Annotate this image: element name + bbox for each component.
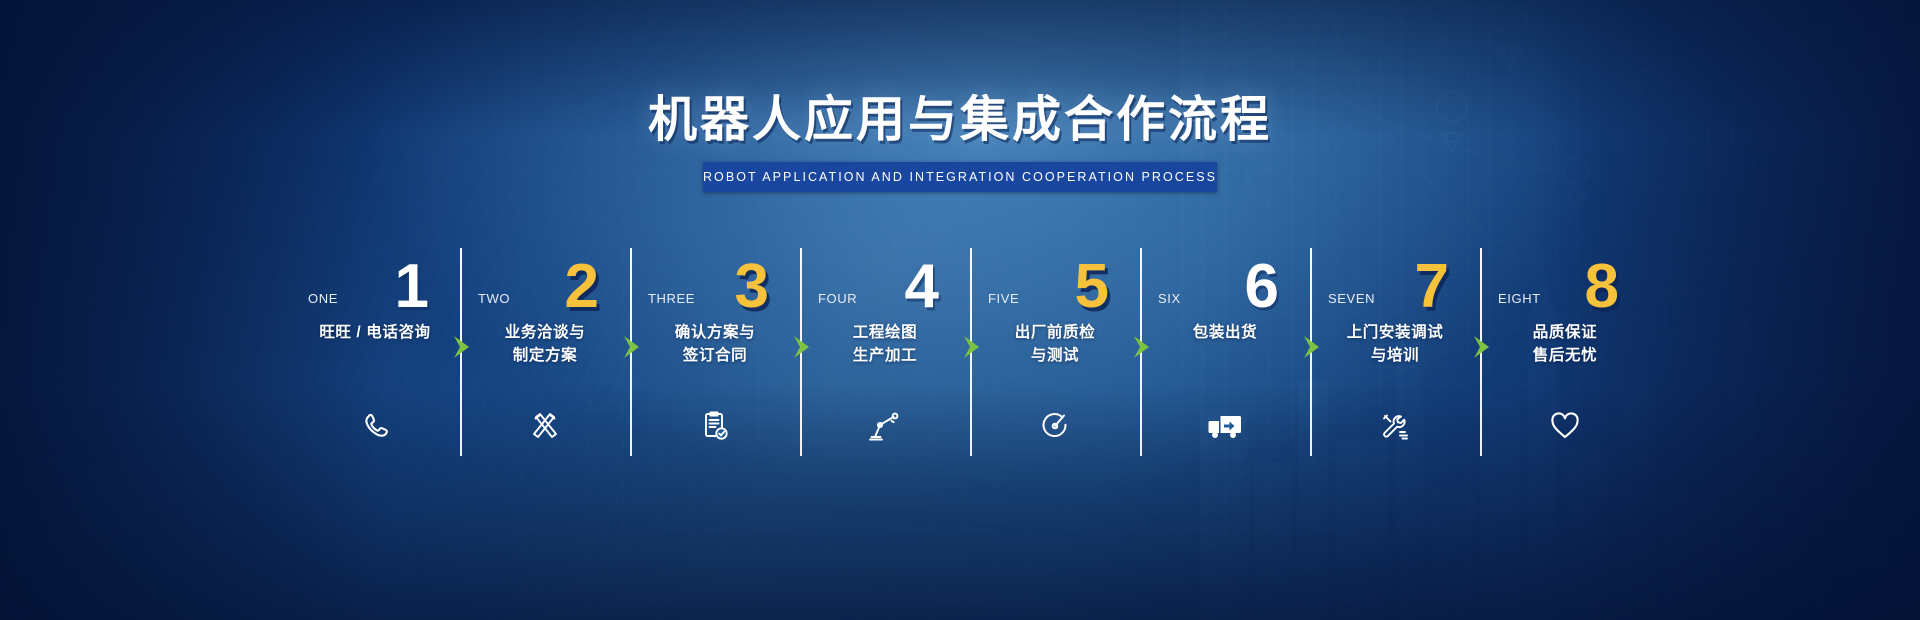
delivery-truck-icon	[1140, 404, 1310, 448]
step-number-row: SEVEN 7	[1310, 248, 1480, 310]
step-numeral: 3	[735, 256, 768, 318]
step-numeral: 8	[1585, 256, 1618, 318]
ruler-pencil-icon	[460, 404, 630, 448]
step-label: 品质保证 售后无忧	[1480, 322, 1650, 368]
page-title: 机器人应用与集成合作流程	[0, 96, 1920, 145]
process-step-4[interactable]: FOUR 4 工程绘图 生产加工	[800, 248, 970, 460]
step-numeral: 7	[1415, 256, 1448, 318]
step-number-row: TWO 2	[460, 248, 630, 310]
process-step-8[interactable]: EIGHT 8 品质保证 售后无忧	[1480, 248, 1650, 460]
step-label-line: 业务洽谈与	[460, 322, 630, 345]
robot-arm-icon	[800, 404, 970, 448]
step-numeral: 5	[1075, 256, 1108, 318]
step-label-line: 旺旺 / 电话咨询	[290, 322, 460, 345]
subtitle-text: ROBOT APPLICATION AND INTEGRATION COOPER…	[703, 170, 1217, 184]
process-step-3[interactable]: THREE 3 确认方案与 签订合同	[630, 248, 800, 460]
gauge-icon	[970, 404, 1140, 448]
step-label-line: 出厂前质检	[970, 322, 1140, 345]
process-step-6[interactable]: SIX 6 包装出货	[1140, 248, 1310, 460]
process-step-1[interactable]: ONE 1 旺旺 / 电话咨询	[290, 248, 460, 460]
step-label-line: 品质保证	[1480, 322, 1650, 345]
process-step-2[interactable]: TWO 2 业务洽谈与 制定方案	[460, 248, 630, 460]
step-number-row: SIX 6	[1140, 248, 1310, 310]
step-label-line: 与培训	[1310, 345, 1480, 368]
step-number-row: ONE 1	[290, 248, 460, 310]
step-ordinal: FIVE	[988, 291, 1019, 306]
step-label-line: 生产加工	[800, 345, 970, 368]
heart-icon	[1480, 404, 1650, 448]
process-step-7[interactable]: SEVEN 7 上门安装调试 与培训	[1310, 248, 1480, 460]
step-label: 工程绘图 生产加工	[800, 322, 970, 368]
step-ordinal: SIX	[1158, 291, 1181, 306]
step-label: 出厂前质检 与测试	[970, 322, 1140, 368]
step-label-line: 签订合同	[630, 345, 800, 368]
step-ordinal: THREE	[648, 291, 695, 306]
step-label-line: 售后无忧	[1480, 345, 1650, 368]
step-label-line: 上门安装调试	[1310, 322, 1480, 345]
step-numeral: 4	[905, 256, 938, 318]
step-numeral: 6	[1245, 256, 1278, 318]
contract-check-icon	[630, 404, 800, 448]
step-number-row: FIVE 5	[970, 248, 1140, 310]
step-number-row: FOUR 4	[800, 248, 970, 310]
process-steps: ONE 1 旺旺 / 电话咨询 TWO 2 业务洽谈与	[290, 248, 1650, 460]
phone-icon	[290, 404, 460, 448]
step-ordinal: SEVEN	[1328, 291, 1375, 306]
wrench-tools-icon	[1310, 404, 1480, 448]
process-banner: 机器人应用与集成合作流程 ROBOT APPLICATION AND INTEG…	[0, 0, 1920, 620]
step-number-row: THREE 3	[630, 248, 800, 310]
step-label: 包装出货	[1140, 322, 1310, 345]
step-label: 确认方案与 签订合同	[630, 322, 800, 368]
step-ordinal: TWO	[478, 291, 510, 306]
step-label-line: 与测试	[970, 345, 1140, 368]
step-label-line: 确认方案与	[630, 322, 800, 345]
process-step-5[interactable]: FIVE 5 出厂前质检 与测试	[970, 248, 1140, 460]
step-ordinal: EIGHT	[1498, 291, 1541, 306]
step-ordinal: ONE	[308, 291, 338, 306]
step-numeral: 1	[395, 256, 428, 318]
step-label-line: 工程绘图	[800, 322, 970, 345]
step-label-line: 包装出货	[1140, 322, 1310, 345]
step-label-line: 制定方案	[460, 345, 630, 368]
step-label: 上门安装调试 与培训	[1310, 322, 1480, 368]
step-ordinal: FOUR	[818, 291, 857, 306]
banner-header: 机器人应用与集成合作流程 ROBOT APPLICATION AND INTEG…	[0, 96, 1920, 192]
step-numeral: 2	[565, 256, 598, 318]
subtitle-bar: ROBOT APPLICATION AND INTEGRATION COOPER…	[703, 162, 1217, 192]
step-label: 旺旺 / 电话咨询	[290, 322, 460, 345]
step-number-row: EIGHT 8	[1480, 248, 1650, 310]
step-label: 业务洽谈与 制定方案	[460, 322, 630, 368]
